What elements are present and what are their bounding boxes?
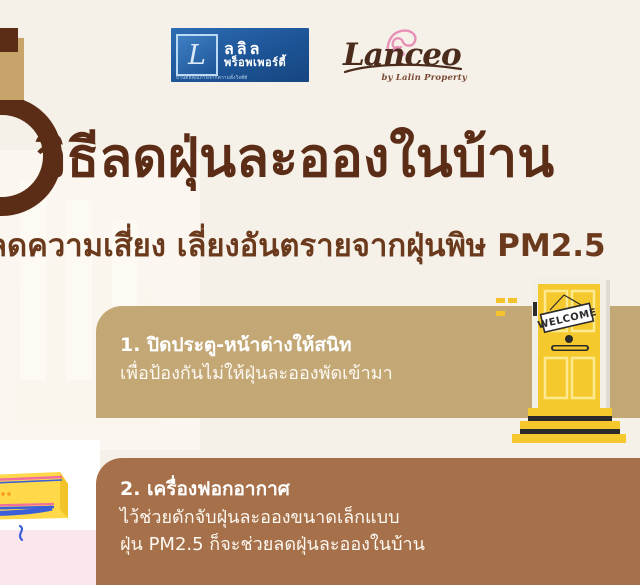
logo-bar: L ลลิล พร็อพเพอร์ตี้ บ้านดีมีคุณภาพจากคว…	[0, 24, 640, 86]
lalin-monogram-icon: L	[176, 34, 218, 76]
column-watermark-2	[66, 200, 92, 380]
yellow-front-door: WELCOME	[494, 276, 626, 446]
air-purifier	[0, 462, 86, 542]
lalin-property-logo[interactable]: L ลลิล พร็อพเพอร์ตี้ บ้านดีมีคุณภาพจากคว…	[171, 28, 309, 82]
lalin-logo-text: ลลิล พร็อพเพอร์ตี้	[218, 41, 303, 70]
tip-card-2: 2. เครื่องฟอกอากาศ ไว้ช่วยดักจับฝุ่นละออ…	[96, 458, 640, 585]
lanceo-logo[interactable]: Lanceo by Lalin Property	[343, 27, 469, 83]
lalin-logo-tagline: บ้านดีมีคุณภาพจากความตั้งใจที่ดี	[176, 74, 248, 81]
infographic-canvas: L ลลิล พร็อพเพอร์ตี้ บ้านดีมีคุณภาพจากคว…	[0, 0, 640, 585]
page-subtitle: ลดความเสี่ยง เลี่ยงอันตรายจากฝุ่นพิษ PM2…	[0, 228, 640, 265]
lalin-logo-line2: พร็อพเพอร์ตี้	[224, 57, 303, 69]
tip-2-title: 2. เครื่องฟอกอากาศ	[120, 476, 640, 504]
page-title: วิธีลดฝุ่นละอองในบ้าน	[36, 126, 640, 190]
tip-2-line-1: ไว้ช่วยดักจับฝุ่นละอองขนาดเล็กแบบ	[120, 504, 640, 531]
lanceo-wordmark: Lanceo	[343, 40, 461, 71]
tip-2-line-2: ฝุ่น PM2.5 ก็จะช่วยลดฝุ่นละอองในบ้าน	[120, 531, 640, 558]
lalin-logo-line1: ลลิล	[224, 41, 303, 58]
lanceo-subtitle: by Lalin Property	[381, 73, 467, 83]
